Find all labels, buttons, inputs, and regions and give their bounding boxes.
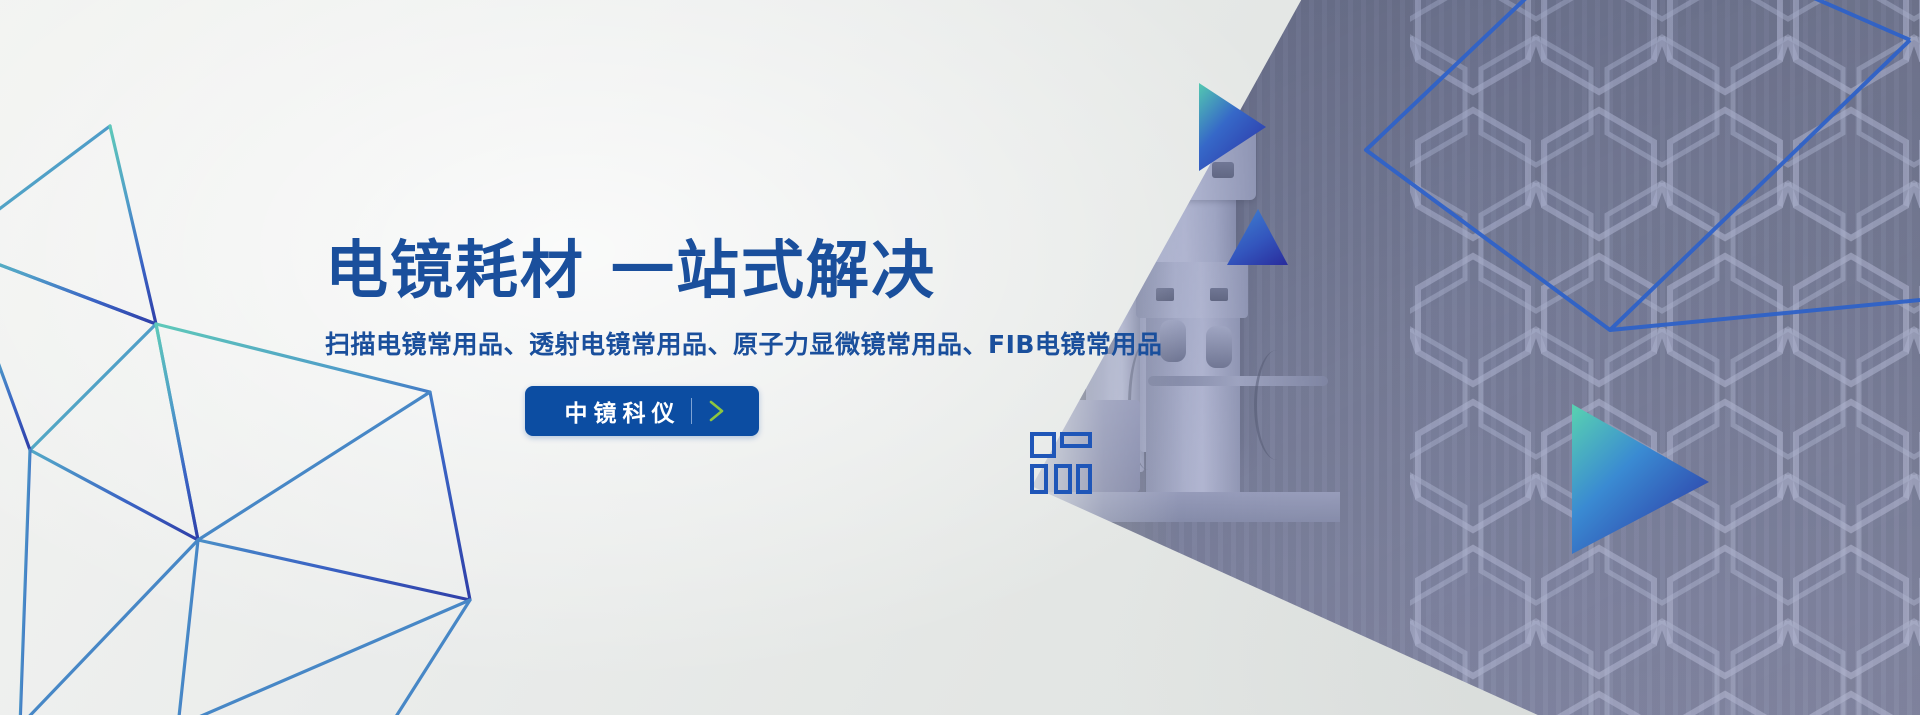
- corner-bracket-glyph-icon: [1030, 432, 1092, 494]
- cta-divider: [691, 398, 692, 424]
- cta-button-label: 中镜科仪: [559, 394, 681, 428]
- triangle-up-icon: [1227, 209, 1288, 265]
- play-triangle-right-icon: [1199, 83, 1266, 171]
- polygon-wireframe-graphic: [0, 40, 520, 715]
- page-subtitle: 扫描电镜常用品、透射电镜常用品、原子力显微镜常用品、FIB电镜常用品: [325, 329, 1085, 362]
- chevron-right-icon: [708, 399, 726, 423]
- headline-part-2: 一站式解决: [611, 234, 936, 307]
- headline-part-1: 电镜耗材: [325, 234, 585, 307]
- hero-banner: 电镜耗材一站式解决 扫描电镜常用品、透射电镜常用品、原子力显微镜常用品、FIB电…: [0, 0, 1920, 715]
- banner-text-block: 电镜耗材一站式解决 扫描电镜常用品、透射电镜常用品、原子力显微镜常用品、FIB电…: [325, 236, 1085, 361]
- page-title: 电镜耗材一站式解决: [325, 236, 1085, 307]
- cta-button[interactable]: 中镜科仪: [525, 386, 759, 436]
- play-triangle-right-large-icon: [1572, 404, 1709, 554]
